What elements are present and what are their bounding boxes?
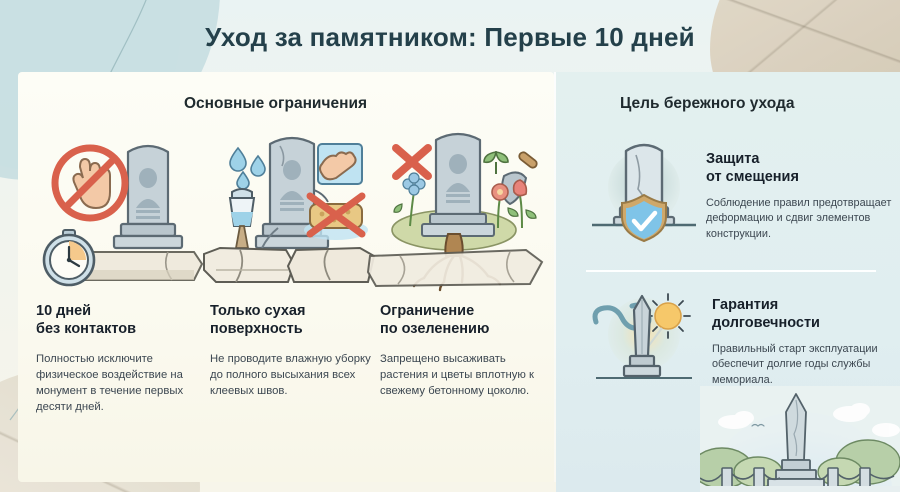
page-title: Уход за памятником: Первые 10 дней bbox=[0, 22, 900, 53]
restriction-title-2: Только сухая поверхность bbox=[210, 298, 378, 338]
goal-title-1-line2: от смещения bbox=[706, 169, 799, 185]
restriction-title-2-line2: поверхность bbox=[210, 321, 303, 337]
no-touch-hand-icon bbox=[55, 148, 125, 218]
restriction-body-2: Не проводите влажную уборку до полного в… bbox=[210, 351, 378, 399]
restriction-card-3 bbox=[380, 130, 548, 288]
stone-slab-icon bbox=[78, 252, 202, 280]
goal-title-1-line1: Защита bbox=[706, 151, 759, 167]
goal-body-1: Соблюдение правил предотвращает деформац… bbox=[706, 196, 894, 242]
section-heading-restrictions: Основные ограничения bbox=[184, 95, 367, 113]
obelisk-infinity-sun-icon bbox=[592, 280, 696, 384]
section-heading-goals: Цель бережного ухода bbox=[620, 95, 795, 113]
restriction-body-3: Запрещено высаживать растения и цветы вп… bbox=[380, 351, 548, 399]
cleaning-cloth-hand-icon bbox=[314, 144, 362, 202]
goal-divider-horizontal bbox=[586, 270, 876, 272]
stone-slab-icon bbox=[368, 250, 542, 286]
panel-divider-vertical bbox=[554, 72, 556, 482]
red-cross-icon bbox=[396, 148, 428, 176]
gravestone-shield-check-icon bbox=[592, 133, 696, 237]
restriction-title-1: 10 дней без контактов bbox=[36, 298, 204, 338]
restriction-card-2 bbox=[210, 130, 378, 288]
memorial-obelisk-landscape-scene bbox=[700, 386, 900, 492]
restriction-body-1-wrap: Полностью исключите физическое воздейств… bbox=[36, 345, 204, 415]
infographic-canvas: Уход за памятником: Первые 10 дней Основ… bbox=[0, 0, 900, 492]
gravestone-icon bbox=[422, 134, 494, 236]
crossed-out-sponge-icon bbox=[304, 196, 368, 240]
restriction-body-1: Полностью исключите физическое воздейств… bbox=[36, 351, 204, 415]
restriction-illustration-1 bbox=[36, 130, 204, 288]
restriction-card-1 bbox=[36, 130, 204, 288]
restriction-title-1-line1: 10 дней bbox=[36, 303, 91, 319]
stopwatch-icon bbox=[44, 230, 94, 285]
bucket-icon bbox=[230, 189, 254, 248]
restriction-title-3-line1: Ограничение bbox=[380, 303, 474, 319]
goal-title-2-line1: Гарантия bbox=[712, 297, 778, 313]
goal-body-2: Правильный старт эксплуатации обеспечит … bbox=[712, 342, 894, 388]
restriction-body-2-wrap: Не проводите влажную уборку до полного в… bbox=[210, 345, 378, 399]
restriction-title-2-line1: Только сухая bbox=[210, 303, 305, 319]
water-drops-icon bbox=[230, 148, 265, 189]
restriction-body-3-wrap: Запрещено высаживать растения и цветы вп… bbox=[380, 345, 548, 399]
goal-title-2-line2: долговечности bbox=[712, 315, 820, 331]
cracked-slab-icon bbox=[204, 248, 374, 282]
restriction-illustration-2 bbox=[210, 130, 378, 288]
restriction-title-1-line2: без контактов bbox=[36, 321, 136, 337]
sprout-icon bbox=[484, 152, 508, 174]
restriction-title-3: Ограничение по озеленению bbox=[380, 298, 548, 338]
restriction-title-3-line2: по озеленению bbox=[380, 321, 489, 337]
restriction-illustration-3 bbox=[380, 130, 548, 288]
